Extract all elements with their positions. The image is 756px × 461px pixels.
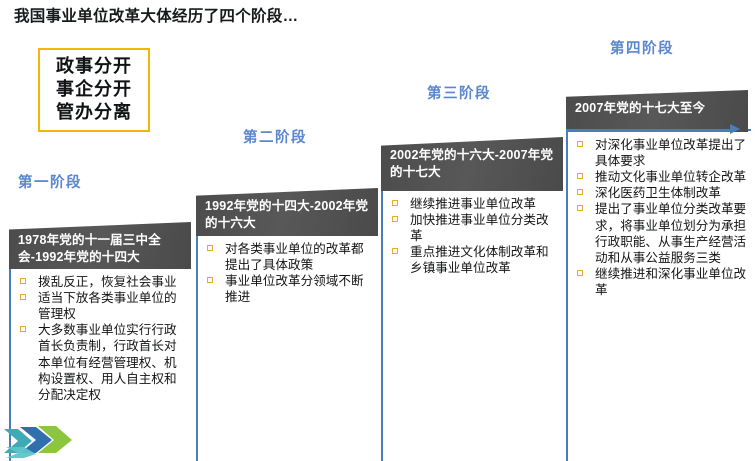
bullet-text: 大多数事业单位实行行政首长负责制，行政首长对本单位有经营管理权、机构设置权、用人…: [38, 323, 177, 401]
stage-1-period-banner: 1978年党的十一届三中全会-1992年党的十四大: [9, 222, 191, 269]
bullet-text: 提出了事业单位分类改革要求，将事业单位划分为承担行政职能、从事生产经营活动和从事…: [595, 202, 746, 264]
bullet-text: 加快推进事业单位分类改革: [410, 213, 549, 243]
list-item: 深化医药卫生体制改革: [575, 185, 749, 201]
bullet-square-icon: [577, 205, 583, 211]
bullet-text: 继续推进和深化事业单位改革: [595, 267, 746, 297]
list-item: 大多数事业单位实行行政首长负责制，行政首长对本单位有经营管理权、机构设置权、用人…: [18, 322, 189, 403]
list-item: 继续推进和深化事业单位改革: [575, 266, 749, 298]
bullet-text: 拨乱反正，恢复社会事业: [38, 275, 177, 289]
stage-2-panel: 对各类事业单位的改革都提出了具体政策 事业单位改革分领域不断推进: [196, 233, 378, 461]
bullet-square-icon: [392, 216, 398, 222]
stage-4-panel: 对深化事业单位改革提出了具体要求 推动文化事业单位转企改革 深化医药卫生体制改革…: [566, 129, 751, 461]
stage-3-panel: 继续推进事业单位改革 加快推进事业单位分类改革 重点推进文化体制改革和乡镇事业单…: [381, 188, 563, 461]
bullet-text: 推动文化事业单位转企改革: [595, 170, 746, 184]
list-item: 继续推进事业单位改革: [390, 196, 561, 212]
list-item: 事业单位改革分领域不断推进: [205, 273, 376, 305]
stage-2-period-banner: 1992年党的十四大-2002年党的十六大: [196, 188, 378, 236]
bullet-square-icon: [577, 189, 583, 195]
stage-1-label: 第一阶段: [18, 171, 82, 192]
bullet-square-icon: [577, 173, 583, 179]
stage-3-period-banner: 2002年党的十六大-2007年党的十七大: [381, 137, 563, 191]
stage-4-label: 第四阶段: [610, 37, 674, 58]
bullet-text: 深化医药卫生体制改革: [595, 186, 721, 200]
page-title: 我国事业单位改革大体经历了四个阶段…: [14, 4, 298, 26]
slide-canvas: 我国事业单位改革大体经历了四个阶段… 第一阶段 拨乱反正，恢复社会事业 适当下放…: [0, 0, 756, 461]
right-arrow-timeline-icon: [730, 124, 740, 134]
list-item: 提出了事业单位分类改革要求，将事业单位划分为承担行政职能、从事生产经营活动和从事…: [575, 201, 749, 265]
bullet-square-icon: [20, 294, 26, 300]
bullet-text: 事业单位改革分领域不断推进: [225, 274, 364, 304]
callout-line-3: 管办分离: [46, 101, 142, 124]
stage-4-bullet-list: 对深化事业单位改革提出了具体要求 推动文化事业单位转企改革 深化医药卫生体制改革…: [568, 131, 751, 298]
reform-principles-callout: 政事分开 事企分开 管办分离: [38, 48, 150, 132]
stage-4-period-banner: 2007年党的十七大至今: [566, 90, 748, 132]
callout-line-1: 政事分开: [46, 55, 142, 78]
list-item: 对深化事业单位改革提出了具体要求: [575, 137, 749, 169]
bullet-text: 重点推进文化体制改革和乡镇事业单位改革: [410, 245, 549, 275]
list-item: 重点推进文化体制改革和乡镇事业单位改革: [390, 244, 561, 276]
bullet-text: 适当下放各类事业单位的管理权: [38, 291, 177, 321]
bullet-square-icon: [392, 200, 398, 206]
list-item: 加快推进事业单位分类改革: [390, 212, 561, 244]
callout-line-2: 事企分开: [46, 78, 142, 101]
list-item: 拨乱反正，恢复社会事业: [18, 274, 189, 290]
stage-2-bullet-list: 对各类事业单位的改革都提出了具体政策 事业单位改革分领域不断推进: [198, 235, 378, 305]
chevron-arrows-logo-icon: [2, 413, 80, 459]
bullet-square-icon: [207, 277, 213, 283]
bullet-text: 继续推进事业单位改革: [410, 197, 536, 211]
stage-3-bullet-list: 继续推进事业单位改革 加快推进事业单位分类改革 重点推进文化体制改革和乡镇事业单…: [383, 190, 563, 277]
list-item: 适当下放各类事业单位的管理权: [18, 290, 189, 322]
bullet-square-icon: [20, 326, 26, 332]
timeline-arrow-line: [566, 129, 732, 132]
bullet-square-icon: [207, 245, 213, 251]
bullet-square-icon: [20, 278, 26, 284]
bullet-square-icon: [577, 141, 583, 147]
bullet-text: 对深化事业单位改革提出了具体要求: [595, 138, 746, 168]
bullet-text: 对各类事业单位的改革都提出了具体政策: [225, 242, 364, 272]
bullet-square-icon: [577, 270, 583, 276]
list-item: 对各类事业单位的改革都提出了具体政策: [205, 241, 376, 273]
list-item: 推动文化事业单位转企改革: [575, 169, 749, 185]
stage-1-bullet-list: 拨乱反正，恢复社会事业 适当下放各类事业单位的管理权 大多数事业单位实行行政首长…: [11, 268, 191, 403]
bullet-square-icon: [392, 248, 398, 254]
stage-3-label: 第三阶段: [427, 82, 491, 103]
stage-2-label: 第二阶段: [243, 126, 307, 147]
